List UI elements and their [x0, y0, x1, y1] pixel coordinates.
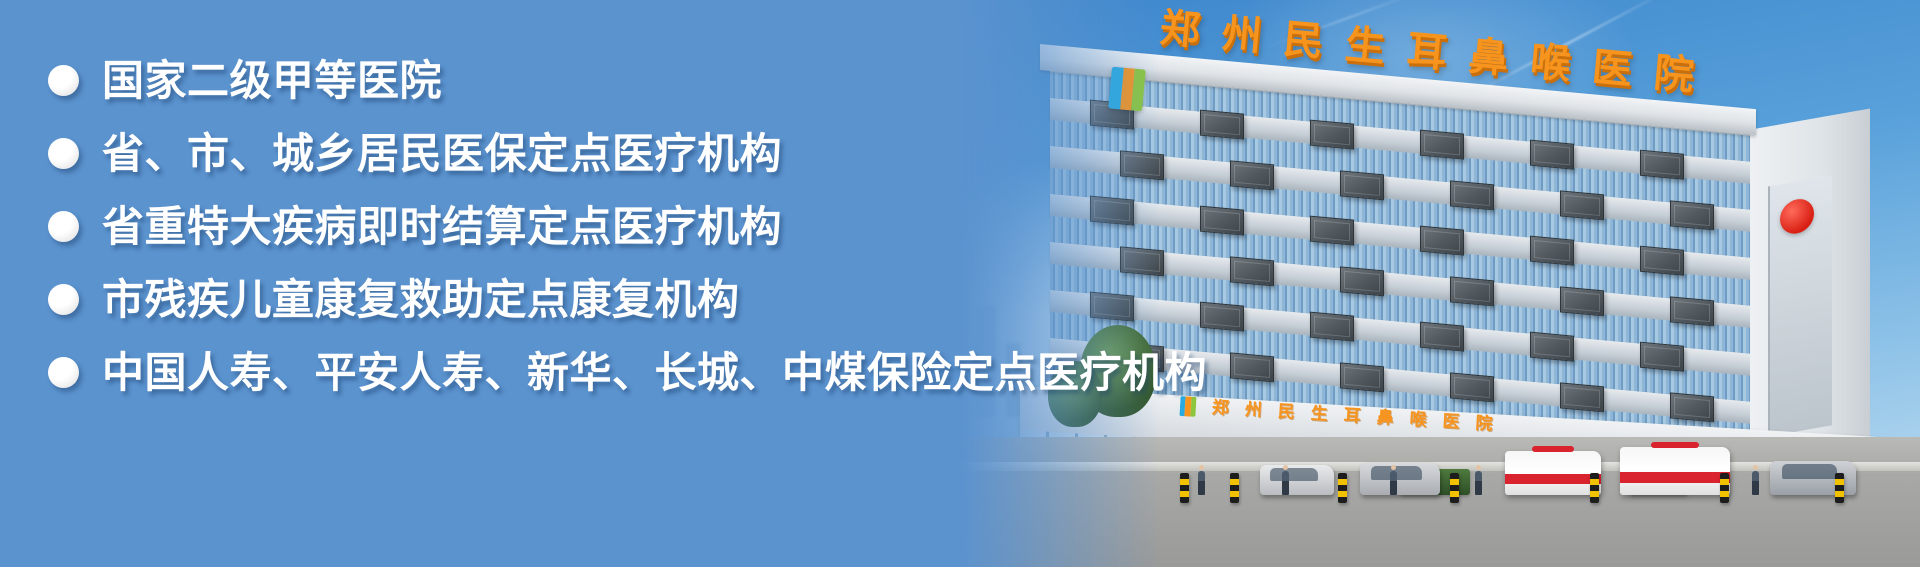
ac-unit	[1670, 296, 1714, 326]
circle-bullet-icon	[48, 138, 79, 169]
bollard	[1590, 473, 1599, 503]
circle-bullet-icon	[48, 211, 79, 242]
pedestrian	[1475, 471, 1482, 495]
ac-unit	[1670, 200, 1714, 230]
bollard	[1835, 473, 1844, 503]
entrance-sign-char: 喉	[1409, 411, 1427, 429]
rooftop-sign-char: 耳	[1405, 31, 1448, 74]
list-item: 中国人寿、平安人寿、新华、长城、中煤保险定点医疗机构	[48, 336, 1408, 409]
list-item: 市残疾儿童康复救助定点康复机构	[48, 263, 1408, 336]
ac-unit	[1420, 322, 1464, 352]
bollard	[1230, 473, 1239, 503]
list-item-label: 市残疾儿童康复救助定点康复机构	[102, 279, 740, 321]
list-item-label: 中国人寿、平安人寿、新华、长城、中煤保险定点医疗机构	[102, 352, 1207, 394]
hospital-promo-banner: 郑 州 民 生 耳 鼻 喉 医 院 郑 州 民 生	[0, 0, 1920, 567]
rooftop-sign-char: 鼻	[1467, 36, 1510, 79]
list-item: 省重特大疾病即时结算定点医疗机构	[48, 190, 1408, 263]
pedestrian	[1198, 471, 1205, 495]
pedestrian	[1752, 471, 1759, 495]
ambulance-vehicle	[1620, 447, 1730, 495]
ac-unit	[1670, 392, 1714, 422]
pedestrian	[1390, 471, 1397, 495]
ac-unit	[1640, 150, 1684, 180]
parked-car	[1260, 465, 1334, 495]
list-item: 国家二级甲等医院	[48, 44, 1408, 117]
bollard	[1180, 473, 1189, 503]
ac-unit	[1640, 246, 1684, 276]
ac-unit	[1420, 226, 1464, 256]
entrance-sign-char: 医	[1442, 413, 1460, 431]
list-item: 省、市、城乡居民医保定点医疗机构	[48, 117, 1408, 190]
circle-bullet-icon	[48, 357, 79, 388]
bollard	[1450, 473, 1459, 503]
bollard	[1720, 473, 1729, 503]
ac-unit	[1530, 236, 1574, 266]
list-item-label: 省重特大疾病即时结算定点医疗机构	[102, 206, 782, 248]
ac-unit	[1530, 140, 1574, 170]
ac-unit	[1450, 372, 1494, 402]
entrance-sign-char: 院	[1475, 415, 1493, 433]
plaza-ground	[930, 437, 1920, 567]
ac-unit	[1450, 180, 1494, 210]
ac-unit	[1530, 332, 1574, 362]
ac-unit	[1560, 190, 1604, 220]
pedestrian	[1282, 471, 1289, 495]
entrance-sign-char: 耳	[1343, 407, 1361, 425]
rooftop-sign-char: 医	[1590, 47, 1633, 90]
credentials-list: 国家二级甲等医院 省、市、城乡居民医保定点医疗机构 省重特大疾病即时结算定点医疗…	[48, 44, 1408, 409]
parked-car	[1360, 463, 1440, 495]
bollard	[1338, 473, 1347, 503]
ac-unit	[1420, 130, 1464, 160]
circle-bullet-icon	[48, 65, 79, 96]
ac-unit	[1560, 286, 1604, 316]
circle-bullet-icon	[48, 284, 79, 315]
rooftop-sign-char: 院	[1652, 53, 1695, 96]
ac-unit	[1450, 276, 1494, 306]
ac-unit	[1560, 382, 1604, 412]
rooftop-sign-char: 喉	[1529, 42, 1572, 85]
list-item-label: 国家二级甲等医院	[102, 60, 442, 102]
ac-unit	[1640, 342, 1684, 372]
ambulance-vehicle	[1505, 451, 1601, 495]
list-item-label: 省、市、城乡居民医保定点医疗机构	[102, 133, 782, 175]
entrance-sign-char: 鼻	[1376, 409, 1394, 427]
